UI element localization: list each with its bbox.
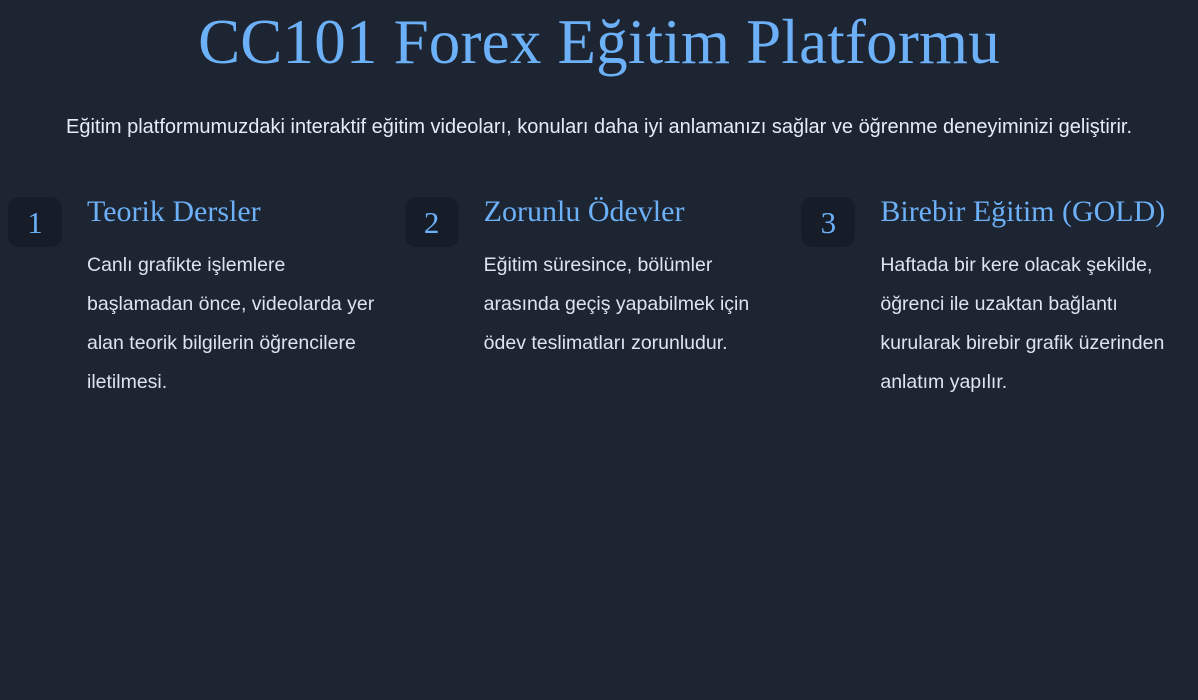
step-number-badge: 3 — [801, 197, 855, 247]
step-content: Zorunlu Ödevler Eğitim süresince, bölüml… — [459, 192, 802, 363]
step-description: Canlı grafikte işlemlere başlamadan önce… — [87, 246, 383, 402]
page-title: CC101 Forex Eğitim Platformu — [0, 4, 1198, 80]
step-title: Teorik Dersler — [87, 192, 405, 232]
steps-section: 1 Teorik Dersler Canlı grafikte işlemler… — [0, 192, 1198, 402]
hero-subtitle: Eğitim platformumuzdaki interaktif eğiti… — [54, 108, 1144, 146]
step-title: Birebir Eğitim (GOLD) — [880, 192, 1198, 232]
page-root: CC101 Forex Eğitim Platformu Eğitim plat… — [0, 0, 1198, 700]
step-description: Haftada bir kere olacak şekilde, öğrenci… — [880, 246, 1182, 402]
step-card-3: 3 Birebir Eğitim (GOLD) Haftada bir kere… — [801, 192, 1198, 402]
step-content: Birebir Eğitim (GOLD) Haftada bir kere o… — [855, 192, 1198, 402]
step-title: Zorunlu Ödevler — [484, 192, 802, 232]
step-description: Eğitim süresince, bölümler arasında geçi… — [484, 246, 780, 363]
step-card-1: 1 Teorik Dersler Canlı grafikte işlemler… — [8, 192, 405, 402]
step-content: Teorik Dersler Canlı grafikte işlemlere … — [62, 192, 405, 402]
step-card-2: 2 Zorunlu Ödevler Eğitim süresince, bölü… — [405, 192, 802, 363]
hero-section: CC101 Forex Eğitim Platformu Eğitim plat… — [0, 0, 1198, 146]
step-number-badge: 2 — [405, 197, 459, 247]
step-number-badge: 1 — [8, 197, 62, 247]
